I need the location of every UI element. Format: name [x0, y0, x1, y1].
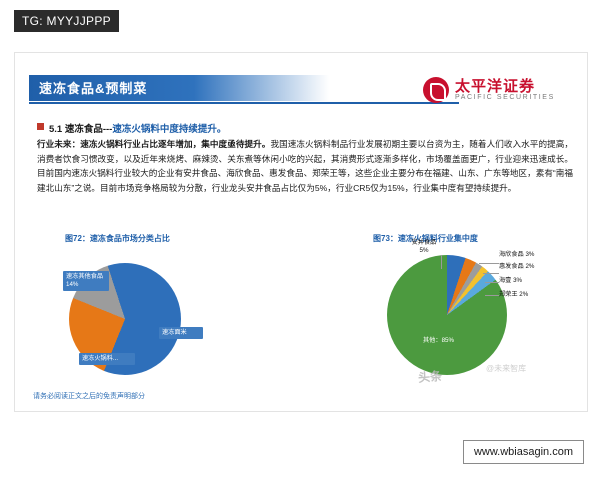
leader-line-anjing [441, 255, 442, 269]
leader-line-haiyi [485, 282, 499, 283]
chart-left: 速冻其他食品14% 速冻面米 速冻火锅料... [55, 249, 285, 389]
header-rule [29, 102, 459, 104]
pie-right-label-huifa: 惠发食品 2% [499, 263, 559, 271]
pie-right-label-zhengrong: 郑荣王 2% [499, 291, 561, 299]
slide-header: 速冻食品&预制菜 太平洋证券 PACIFIC SECURITIES [15, 75, 587, 105]
pie-left-label-other: 速冻其他食品14% [63, 271, 109, 291]
section-number: 5.1 [49, 124, 62, 135]
chart-caption-left: 图72：速冻食品市场分类占比 [65, 233, 170, 244]
pie-left-label-hotpot: 速冻火锅料... [79, 353, 135, 365]
watermark-account: @未来智库 [486, 363, 526, 374]
watermark-headline: 头条 [417, 367, 442, 386]
leader-line-haixin [479, 263, 499, 264]
pie-right-label-other: 其他：85% [423, 337, 471, 345]
section-heading: 5.1 速冻食品---速冻火锅料中度持续提升。 [37, 119, 577, 137]
page-root: TG: MYYJJPPP 速冻食品&预制菜 太平洋证券 PACIFIC SECU… [0, 0, 600, 480]
paragraph-lead: 行业未来：速冻火锅料行业占比逐年增加，集中度亟待提升。 [37, 139, 270, 149]
header-title: 速冻食品&预制菜 [39, 78, 147, 97]
leader-line-huifa [483, 273, 499, 274]
pie-right-label-haixin: 海欣食品 3% [499, 251, 555, 259]
bullet-square-icon [37, 123, 44, 130]
pie-left-label-noodle: 速冻面米 [159, 327, 203, 339]
pie-right-label-haiyi: 海壹 3% [499, 277, 555, 285]
watermark-url: www.wbiasagin.com [463, 440, 584, 464]
footer-disclaimer: 请务必阅读正文之后的免责声明部分 [33, 391, 145, 401]
section-title-blue: 速冻火锅料中度持续提升。 [112, 124, 226, 135]
leader-line-zhengrong [485, 295, 499, 296]
section-title-black: 速冻食品--- [65, 124, 113, 135]
pacific-logo-icon [423, 77, 449, 103]
slide-card: 速冻食品&预制菜 太平洋证券 PACIFIC SECURITIES 5.1 速冻… [14, 52, 588, 412]
logo-text-en: PACIFIC SECURITIES [455, 94, 555, 101]
telegram-tag: TG: MYYJJPPP [14, 10, 119, 32]
pie-right-label-anjing: 安井食品5% [399, 239, 449, 255]
chart-right: 安井食品5% 海欣食品 3% 惠发食品 2% 海壹 3% 郑荣王 2% 其他：8… [367, 249, 577, 389]
logo-text-cn: 太平洋证券 [455, 75, 535, 96]
body-paragraph: 行业未来：速冻火锅料行业占比逐年增加，集中度亟待提升。我国速冻火锅料制品行业发展… [37, 137, 573, 195]
brand-logo: 太平洋证券 PACIFIC SECURITIES [423, 73, 573, 113]
